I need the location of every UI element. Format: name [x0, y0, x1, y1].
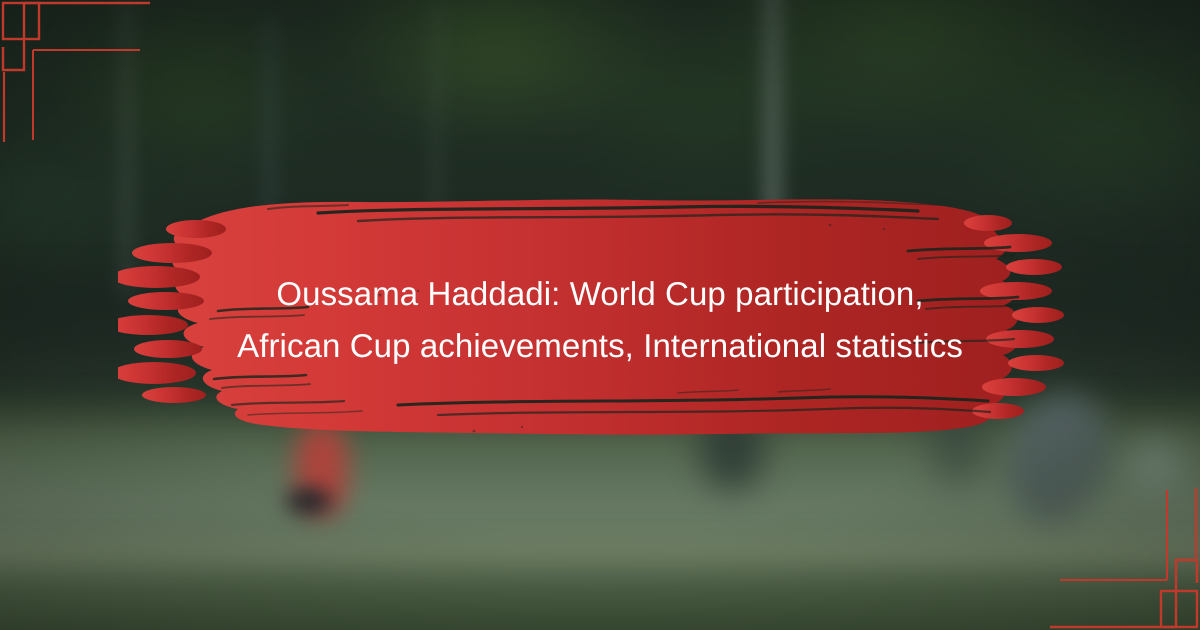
corner-ornament-top-left — [0, 0, 160, 160]
corner-ornament-bottom-right — [1040, 470, 1200, 630]
page-title: Oussama Haddadi: World Cup participation… — [150, 268, 1050, 372]
title-line-2: African Cup achievements, International … — [150, 320, 1050, 372]
title-line-1: Oussama Haddadi: World Cup participation… — [150, 268, 1050, 320]
